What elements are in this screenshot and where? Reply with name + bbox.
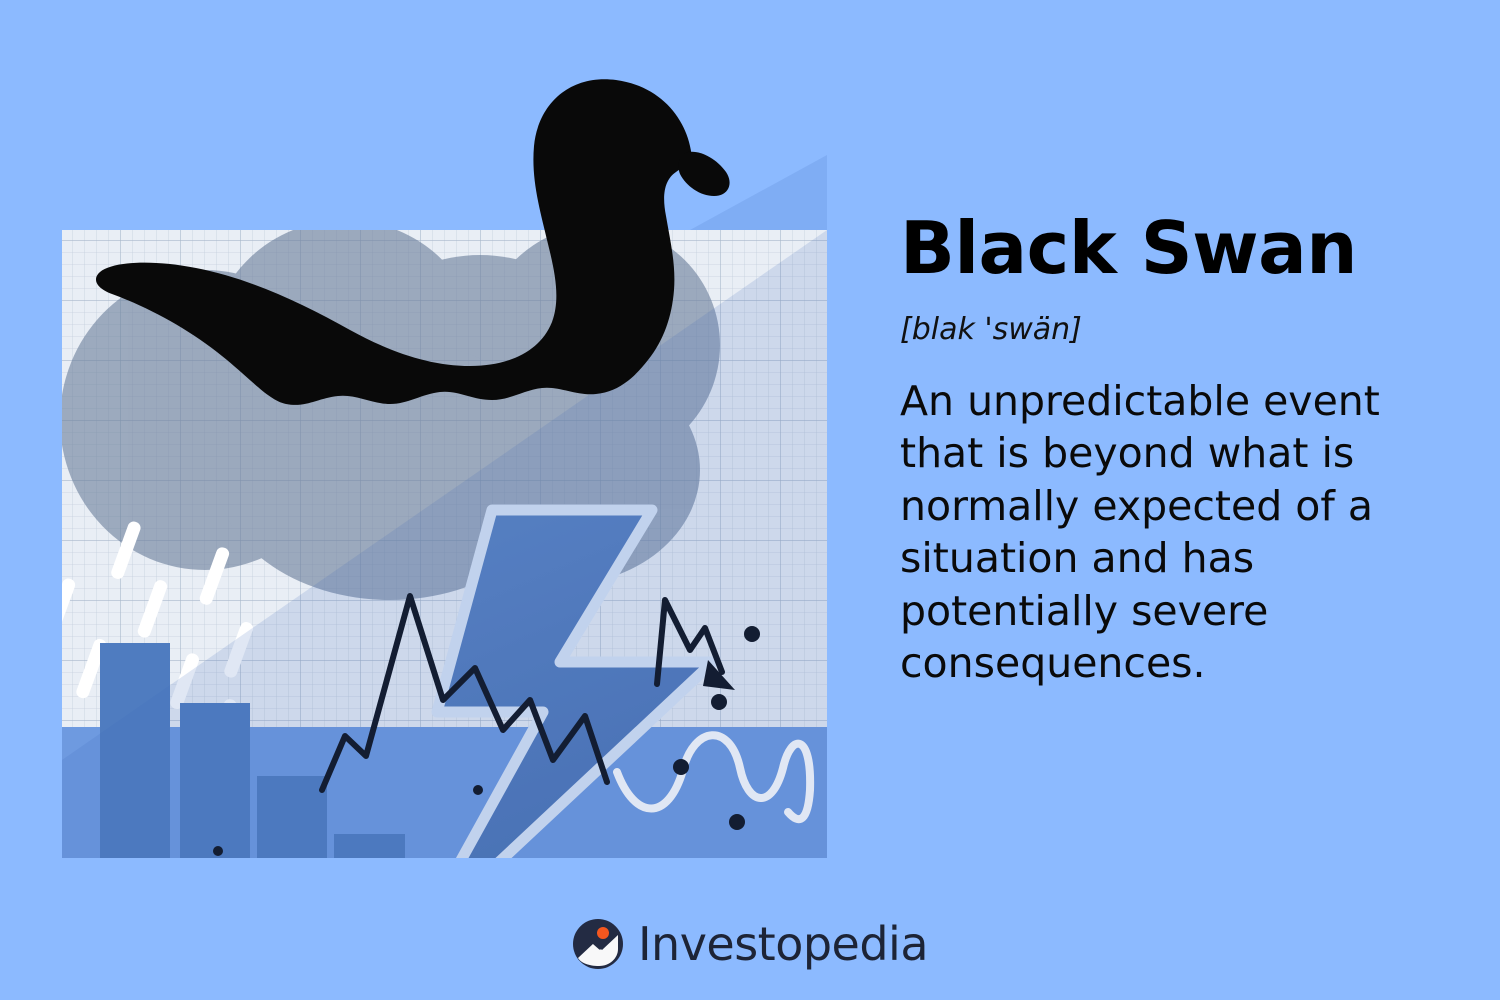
definition-card: Black Swan [blak 'swän] An unpredictable… — [0, 0, 1500, 1000]
illustration — [0, 0, 880, 920]
brand-name: Investopedia — [638, 921, 928, 967]
page-title: Black Swan — [900, 212, 1440, 284]
brand-footer: Investopedia — [0, 918, 1500, 970]
pronunciation-text: [blak 'swän] — [900, 312, 1440, 347]
definition-text-column: Black Swan [blak 'swän] An unpredictable… — [900, 212, 1440, 690]
investopedia-logo-icon — [572, 918, 624, 970]
definition-text: An unpredictable event that is beyond wh… — [900, 375, 1430, 690]
